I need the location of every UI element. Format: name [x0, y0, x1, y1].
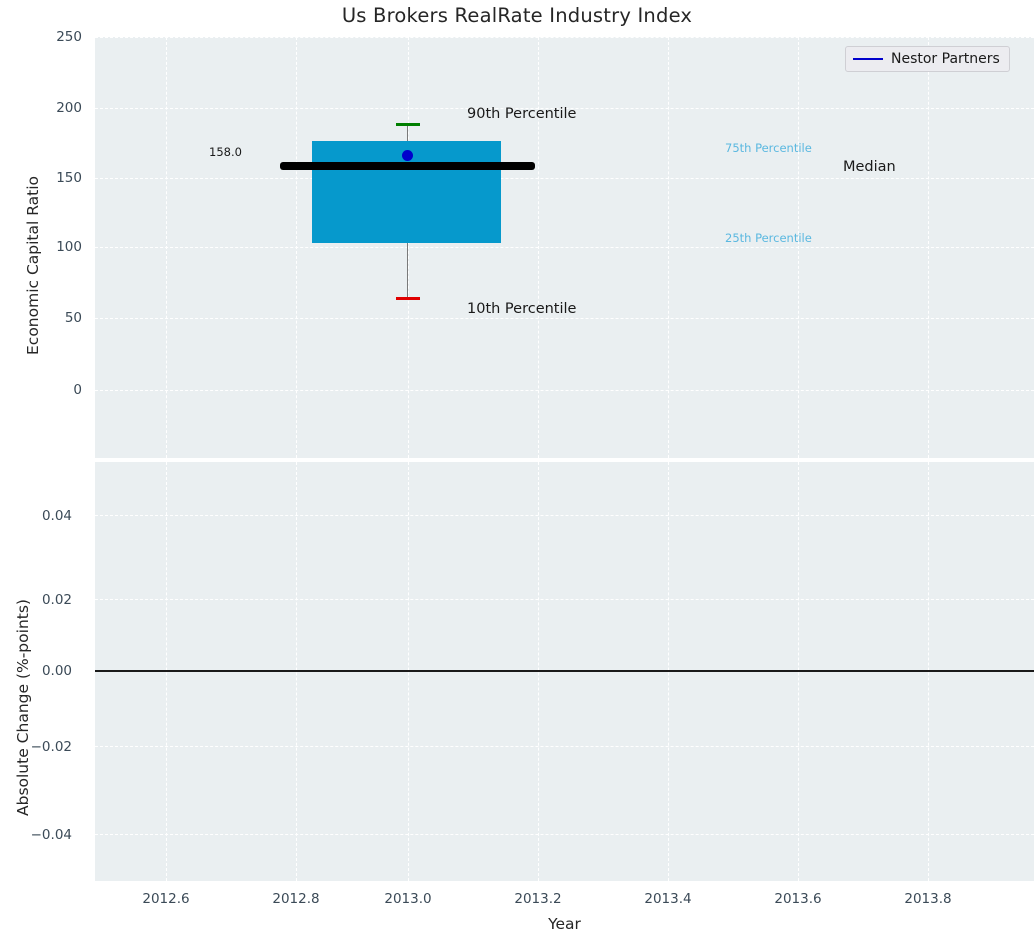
xtick-label-2013.8: 2013.8: [883, 893, 973, 907]
gridline-x-2013.6: [798, 37, 799, 458]
x-axis-title: Year: [95, 915, 1034, 933]
annotation-10th-percentile: 10th Percentile: [467, 301, 576, 317]
ytick-label--0.04: −0.04: [16, 829, 72, 843]
nestor-partners-marker: [402, 150, 413, 161]
ytick-label-0: 0: [26, 384, 82, 398]
xtick-label-2012.6: 2012.6: [121, 893, 211, 907]
xtick-label-2013.6: 2013.6: [753, 893, 843, 907]
legend-label-nestor-partners: Nestor Partners: [891, 51, 1000, 67]
ytick-label-0.04: 0.04: [16, 510, 72, 524]
legend[interactable]: Nestor Partners: [845, 46, 1010, 72]
annotation-25th-percentile: 25th Percentile: [725, 231, 812, 245]
gridline-y-0.04: [95, 515, 1034, 516]
gridline-x-2012.6: [166, 37, 167, 458]
xtick-label-2013.0: 2013.0: [363, 893, 453, 907]
xtick-label-2013.4: 2013.4: [623, 893, 713, 907]
gridline-y-0: [95, 390, 1034, 391]
gridline-x-2013.2: [538, 37, 539, 458]
zero-reference-line: [95, 670, 1034, 672]
xtick-label-2013.2: 2013.2: [493, 893, 583, 907]
cap-90th-percentile: [396, 123, 420, 126]
annotation-75th-percentile: 75th Percentile: [725, 141, 812, 155]
cap-10th-percentile: [396, 297, 420, 300]
xtick-label-2012.8: 2012.8: [251, 893, 341, 907]
gridline-y--0.04: [95, 834, 1034, 835]
plot-area-economic-capital-ratio: [95, 37, 1034, 458]
y-axis-title-absolute-change: Absolute Change (%-points): [14, 599, 32, 816]
gridline-y-50: [95, 318, 1034, 319]
median-line: [280, 162, 535, 170]
gridline-x-2012.8: [296, 37, 297, 458]
gridline-y-250: [95, 37, 1034, 38]
gridline-y-0.02: [95, 599, 1034, 600]
gridline-y-150: [95, 178, 1034, 179]
ytick-label-200: 200: [26, 102, 82, 116]
gridline-x-2013.4: [668, 37, 669, 458]
gridline-y--0.02: [95, 746, 1034, 747]
annotation-median: Median: [843, 159, 896, 175]
y-axis-title-economic-capital-ratio: Economic Capital Ratio: [24, 176, 42, 355]
annotation-90th-percentile: 90th Percentile: [467, 106, 576, 122]
plot-area-absolute-change: [95, 462, 1034, 881]
chart-title: Us Brokers RealRate Industry Index: [0, 4, 1034, 27]
gridline-y-100: [95, 247, 1034, 248]
ytick-label-250: 250: [26, 31, 82, 45]
gridline-x-2013.8: [928, 37, 929, 458]
median-value-label: 158.0: [209, 145, 242, 159]
chart-figure: Us Brokers RealRate Industry Index: [0, 0, 1034, 942]
legend-line-icon: [853, 58, 883, 60]
